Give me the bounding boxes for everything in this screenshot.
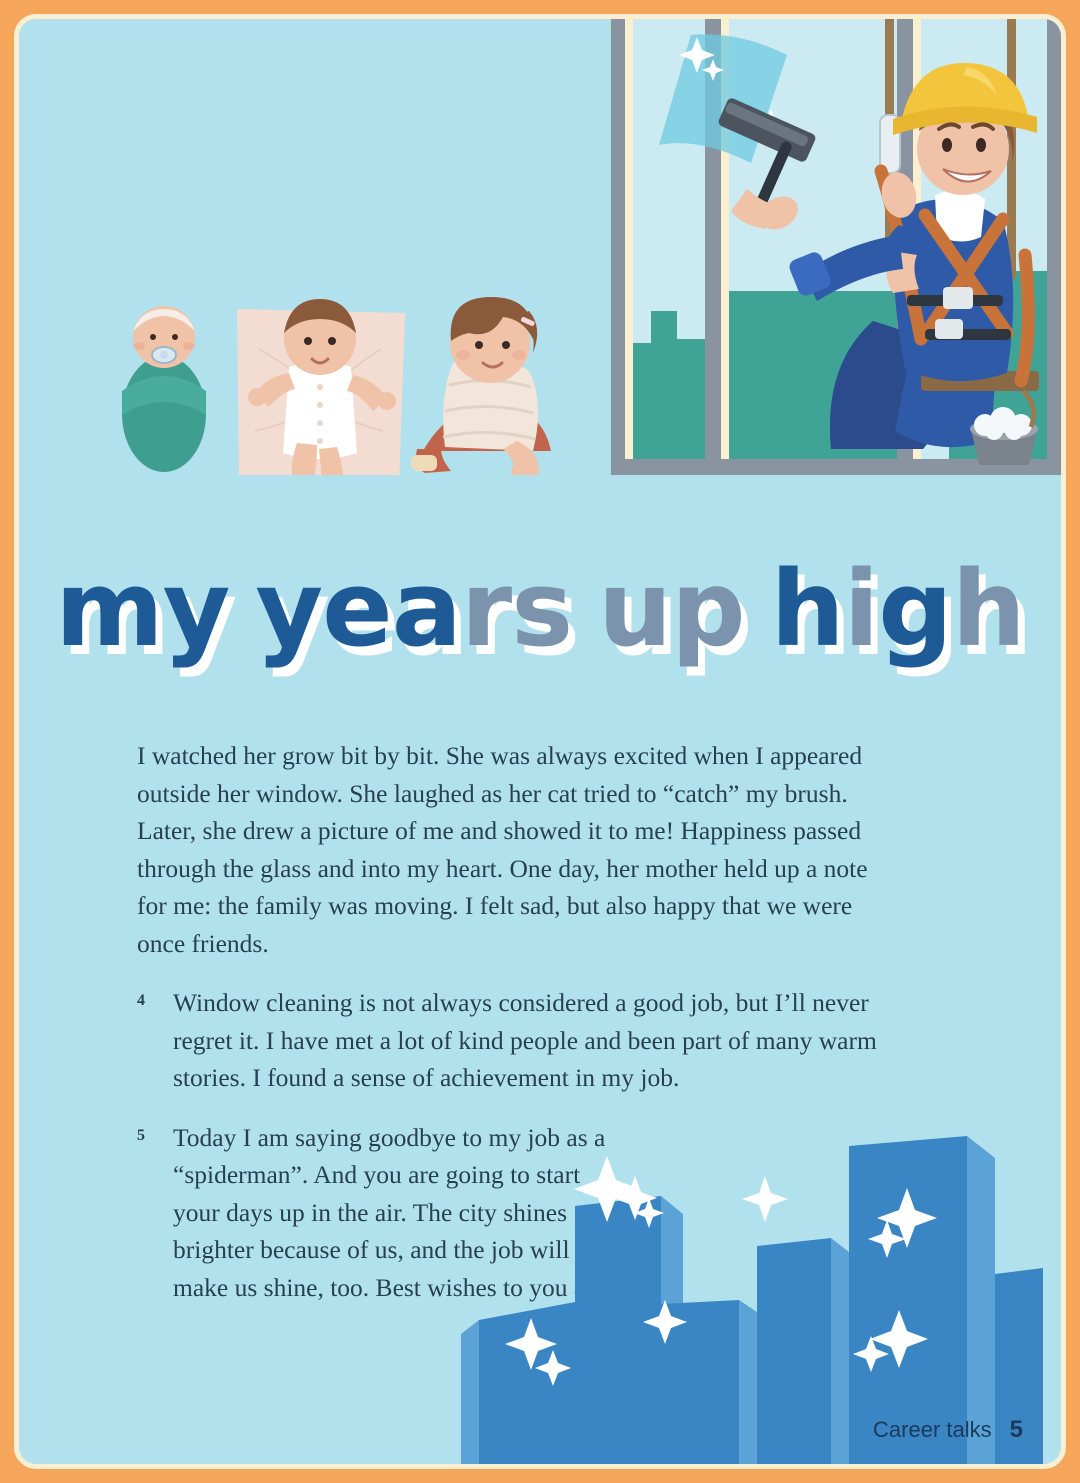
title-letter: a [392,557,461,661]
header-illustration [19,19,1061,475]
title-letter: r [461,557,511,661]
page-inner-frame: myyearsuphigh I watched her grow bit by … [14,14,1066,1469]
page-footer: Career talks 5 [873,1416,1023,1444]
paragraph-4-text: Window cleaning is not always considered… [173,984,897,1097]
title-letter: p [671,557,744,661]
title-letter: u [598,557,671,661]
paragraph-4-number: 4 [137,982,145,1020]
baby-swaddled [122,306,206,472]
page-title: myyearsuphigh [19,557,1061,661]
paragraph-3: I watched her grow bit by bit. She was a… [137,737,897,962]
baby-on-blanket [237,299,405,475]
paragraph-5-text: Today I am saying goodbye to my job as a… [173,1119,623,1307]
footer-page-number: 5 [1010,1416,1023,1444]
title-letter: i [844,557,879,661]
paragraph-4: 4 Window cleaning is not always consider… [137,984,897,1097]
page-title-text: myyearsuphigh [55,557,1025,661]
title-letter: g [878,557,951,661]
title-letter: s [511,557,572,661]
window-cleaner-scene [611,19,1061,475]
page: myyearsuphigh I watched her grow bit by … [0,0,1080,1483]
paragraph-5: 5 Today I am saying goodbye to my job as… [137,1119,897,1307]
footer-section-label: Career talks [873,1417,992,1443]
title-letter: m [55,557,162,661]
paragraph-5-number: 5 [137,1117,145,1155]
title-letter: h [771,557,844,661]
title-letter: y [255,557,322,661]
title-letter: e [322,557,392,661]
title-letter: h [952,557,1025,661]
paragraph-3-text: I watched her grow bit by bit. She was a… [137,737,897,962]
title-letter: y [163,557,230,661]
article-body: I watched her grow bit by bit. She was a… [137,737,897,1328]
